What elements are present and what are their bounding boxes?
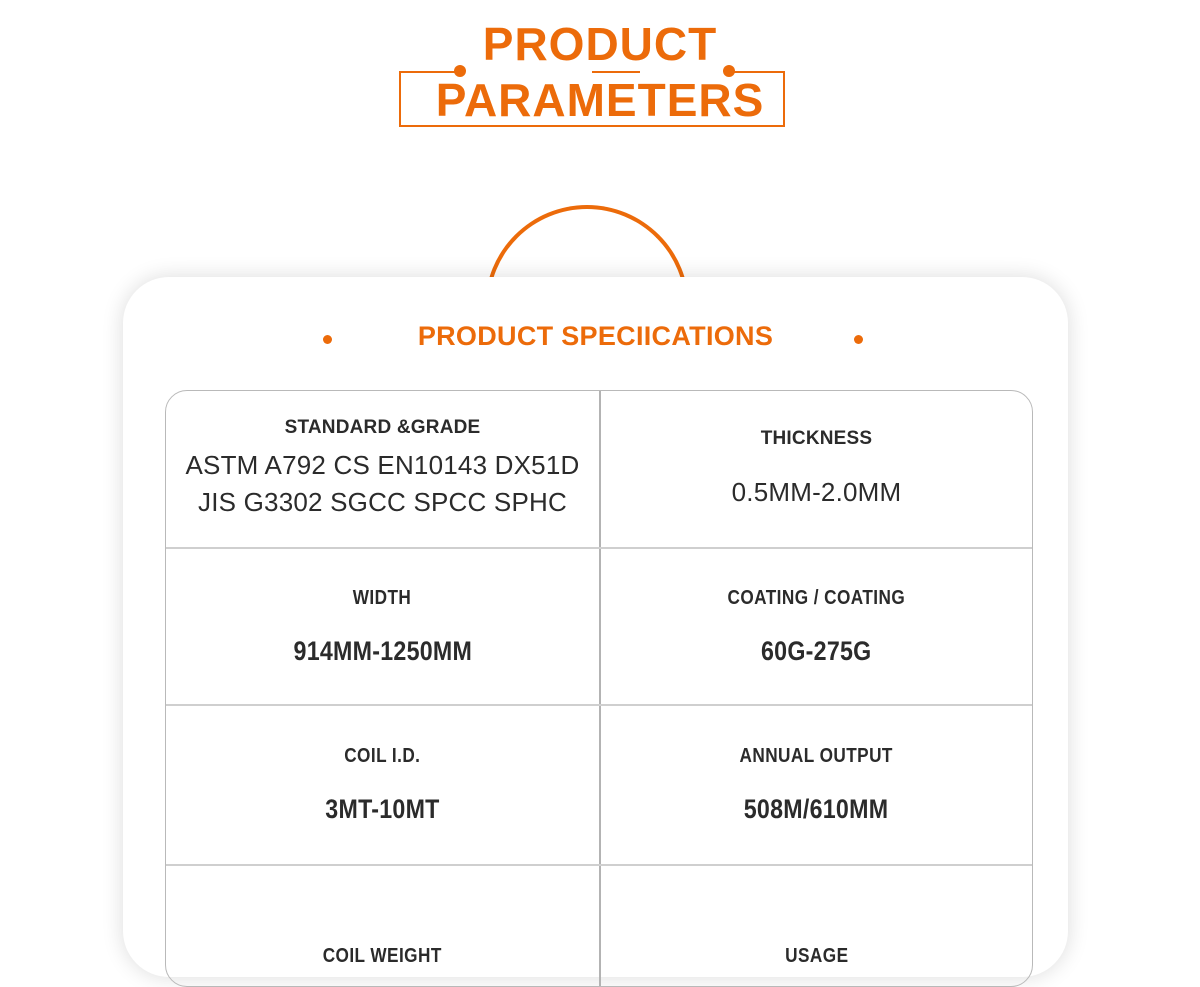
cell-label: ANNUAL OUTPUT	[740, 745, 893, 768]
spec-cell-coil-weight: COIL WEIGHT	[166, 866, 599, 986]
spec-cell-coil-id: COIL I.D. 3MT-10MT	[166, 706, 599, 864]
cell-label: COIL I.D.	[344, 745, 420, 768]
cell-value: JIS G3302 SGCC SPCC SPHC	[198, 484, 567, 521]
cell-value: 508M/610MM	[744, 794, 889, 825]
cell-label: USAGE	[785, 945, 848, 968]
cell-value: 914MM-1250MM	[293, 636, 472, 667]
cell-label: THICKNESS	[761, 428, 873, 450]
spec-cell-standard-grade: STANDARD &GRADE ASTM A792 CS EN10143 DX5…	[166, 391, 599, 547]
title-dot-left-icon	[323, 335, 332, 344]
title-dot-right-icon	[854, 335, 863, 344]
cell-label: STANDARD &GRADE	[285, 417, 481, 439]
cell-value: ASTM A792 CS EN10143 DX51D	[186, 447, 580, 484]
spec-cell-usage: USAGE	[599, 866, 1032, 986]
table-row: WIDTH 914MM-1250MM COATING / COATING 60G…	[166, 547, 1032, 704]
spec-cell-annual-output: ANNUAL OUTPUT 508M/610MM	[599, 706, 1032, 864]
page-title-line-2: PARAMETERS	[0, 72, 1200, 128]
spec-card: PRODUCT SPECIICATIONS STANDARD &GRADE AS…	[123, 277, 1068, 977]
table-row: COIL I.D. 3MT-10MT ANNUAL OUTPUT 508M/61…	[166, 704, 1032, 864]
spec-cell-thickness: THICKNESS 0.5MM-2.0MM	[599, 391, 1032, 547]
table-row: STANDARD &GRADE ASTM A792 CS EN10143 DX5…	[166, 391, 1032, 547]
page-title-line-1: PRODUCT	[0, 18, 1200, 70]
cell-label: COIL WEIGHT	[323, 945, 442, 968]
spec-cell-coating: COATING / COATING 60G-275G	[599, 549, 1032, 704]
spec-cell-width: WIDTH 914MM-1250MM	[166, 549, 599, 704]
cell-value: 0.5MM-2.0MM	[732, 474, 902, 511]
cell-value: 60G-275G	[761, 636, 871, 667]
cell-value: 3MT-10MT	[325, 794, 439, 825]
table-row: COIL WEIGHT USAGE	[166, 864, 1032, 986]
cell-label: COATING / COATING	[728, 587, 906, 610]
cell-label: WIDTH	[353, 587, 412, 610]
page-banner: PRODUCT PARAMETERS	[0, 0, 1200, 160]
spec-table: STANDARD &GRADE ASTM A792 CS EN10143 DX5…	[165, 390, 1033, 987]
spec-card-title: PRODUCT SPECIICATIONS	[123, 321, 1068, 352]
